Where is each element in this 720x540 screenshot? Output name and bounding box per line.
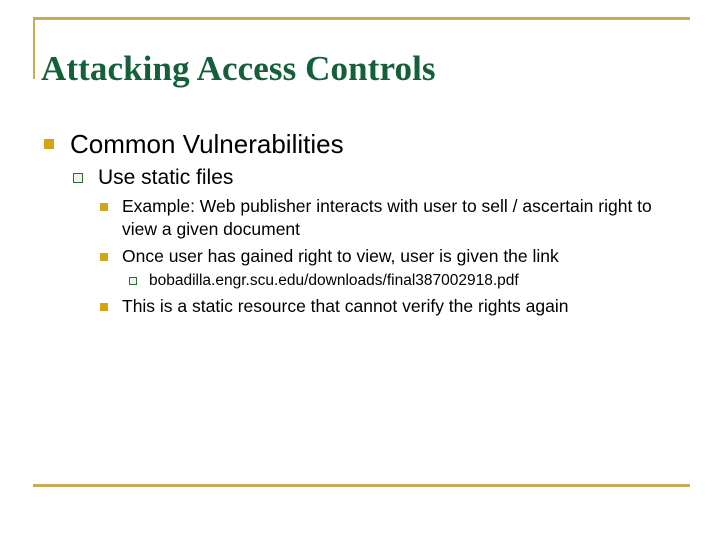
list-item: Common Vulnerabilities (0, 128, 720, 160)
list-item: Use static files (0, 164, 720, 191)
list-item: Once user has gained right to view, user… (0, 245, 720, 268)
title-top-rule (33, 17, 690, 20)
bullet-square-green-icon (129, 277, 137, 285)
list-item-url: bobadilla.engr.scu.edu/downloads/final38… (149, 270, 720, 291)
list-item-label: Once user has gained right to view, user… (122, 245, 720, 268)
list-item-label: Use static files (98, 164, 720, 191)
bullet-square-gold-icon (100, 303, 108, 311)
list-item: Example: Web publisher interacts with us… (0, 195, 720, 241)
list-item: This is a static resource that cannot ve… (0, 295, 720, 318)
list-item-label: Common Vulnerabilities (70, 128, 720, 160)
bullet-square-gold-icon (100, 203, 108, 211)
slide: Attacking Access Controls Common Vulnera… (0, 0, 720, 540)
footer-rule (33, 484, 690, 487)
bullet-square-green-icon (73, 173, 83, 183)
title-left-rule (33, 17, 35, 79)
page-title: Attacking Access Controls (41, 47, 681, 91)
bullet-square-gold-icon (100, 253, 108, 261)
bullet-list: Common Vulnerabilities Use static files … (0, 128, 720, 320)
list-item: bobadilla.engr.scu.edu/downloads/final38… (0, 270, 720, 291)
list-item-label: This is a static resource that cannot ve… (122, 295, 720, 318)
bullet-square-gold-icon (44, 139, 54, 149)
list-item-label: Example: Web publisher interacts with us… (122, 195, 720, 241)
